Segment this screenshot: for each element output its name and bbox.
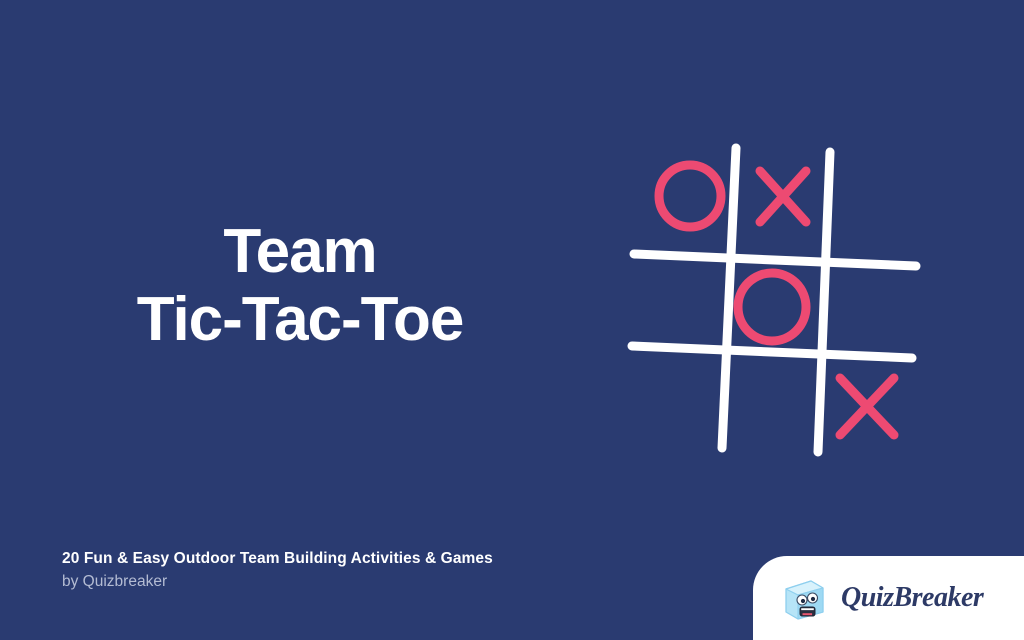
- tic-tac-toe-board: [610, 130, 940, 470]
- footer-title: 20 Fun & Easy Outdoor Team Building Acti…: [62, 548, 702, 570]
- title-line-1: Team: [0, 218, 600, 286]
- grid-line-horizontal-top: [634, 254, 916, 266]
- grid-line-vertical-right: [818, 152, 830, 452]
- mark-x-bottom-right: [840, 378, 894, 435]
- title-line-2: Tic-Tac-Toe: [0, 286, 600, 354]
- footer-caption: 20 Fun & Easy Outdoor Team Building Acti…: [62, 548, 702, 593]
- mark-o-top-left: [659, 165, 721, 227]
- brand-wordmark: QuizBreaker: [841, 582, 983, 614]
- page-title: Team Tic-Tac-Toe: [0, 218, 600, 354]
- brand-logo-panel: QuizBreaker: [753, 556, 1024, 640]
- grid-line-horizontal-bottom: [632, 346, 912, 358]
- mark-x-top-center: [760, 171, 806, 222]
- footer-subtitle: by Quizbreaker: [62, 571, 702, 593]
- slide-canvas: Team Tic-Tac-Toe: [0, 0, 1024, 640]
- mark-o-middle-center: [738, 273, 806, 341]
- board-grid-lines: [632, 148, 916, 452]
- ice-cube-icon: [781, 575, 827, 621]
